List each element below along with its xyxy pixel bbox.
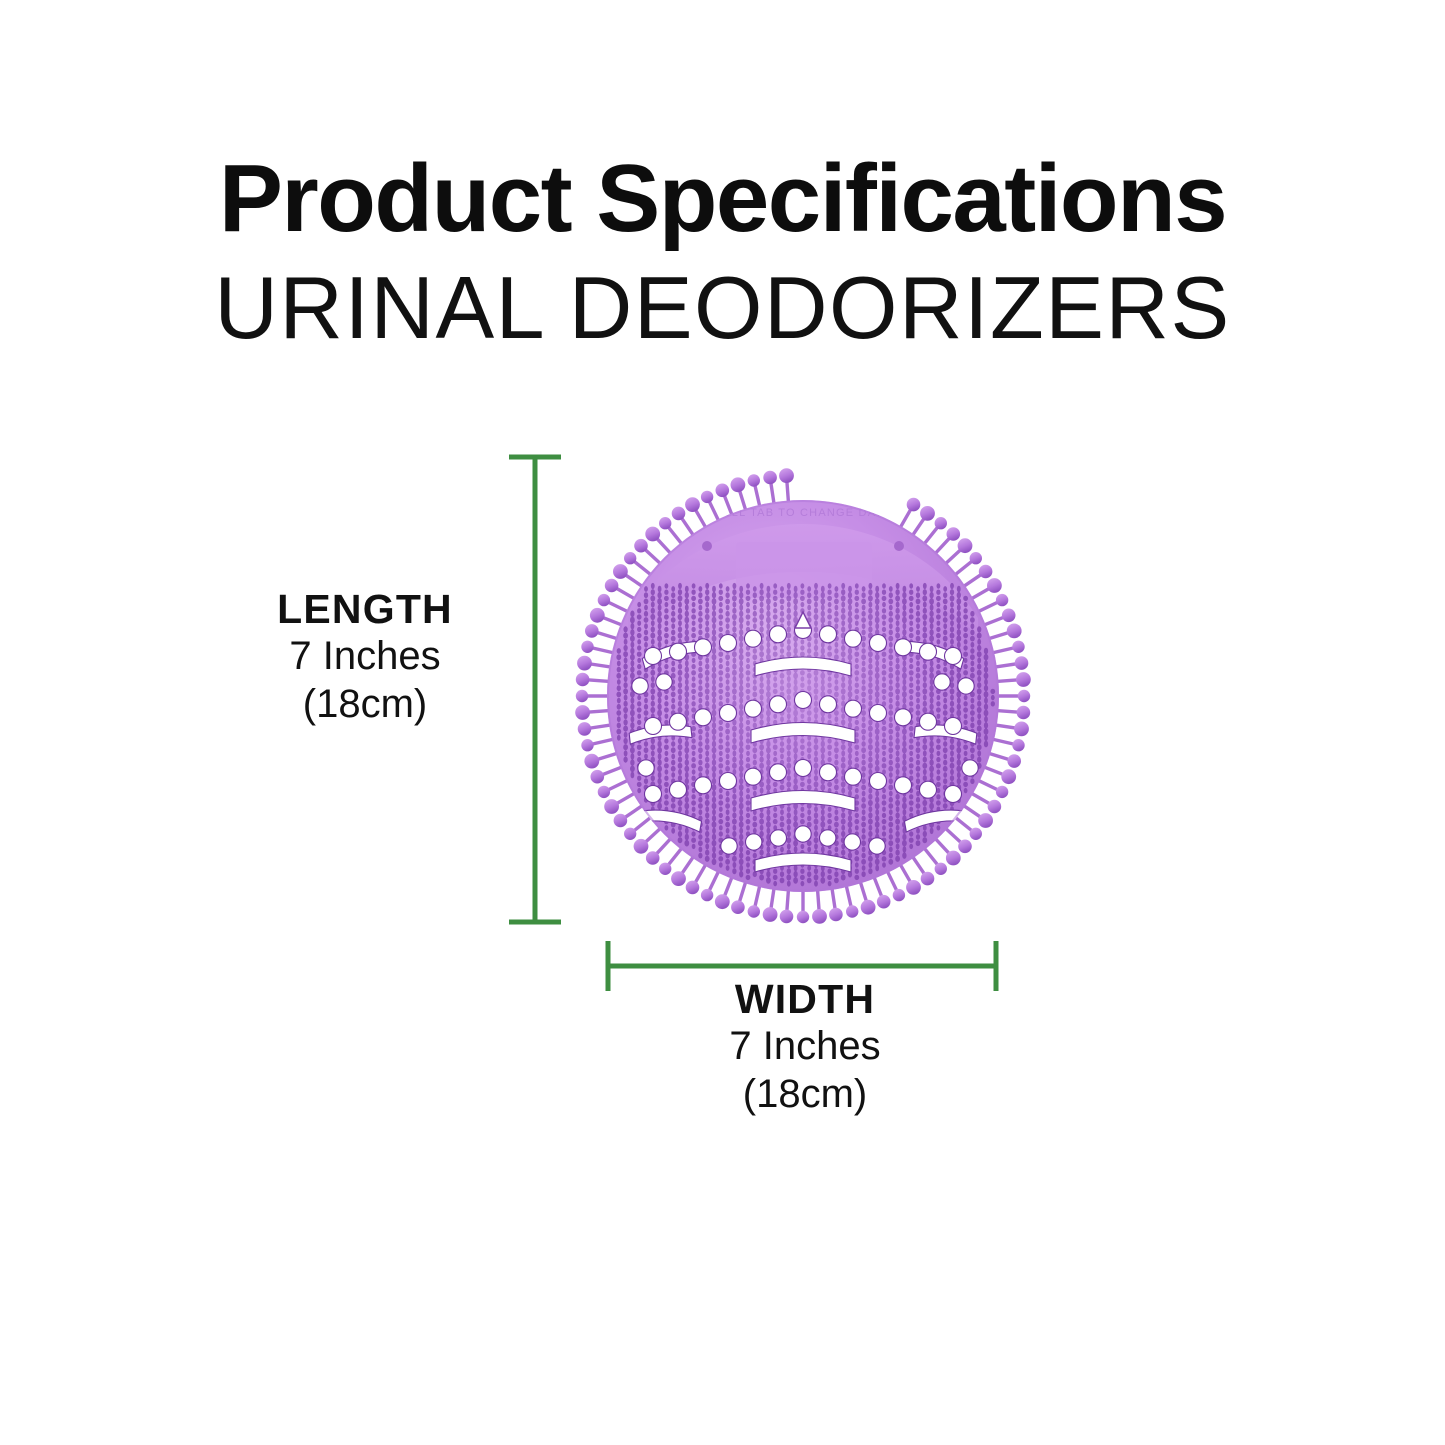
length-label-value: 7 Inches [210, 633, 520, 680]
length-label-name: LENGTH [210, 585, 520, 633]
width-label-name: WIDTH [640, 975, 970, 1023]
page-subtitle: URINAL DEODORIZERS [0, 248, 1445, 355]
width-label: WIDTH 7 Inches (18cm) [640, 975, 970, 1118]
embossed-top-text: PULL TAB TO CHANGE DATE [714, 507, 892, 519]
length-label-metric: (18cm) [210, 681, 520, 728]
urinal-screen-illustration: PULL TAB TO CHANGE DATE [568, 468, 1038, 928]
width-label-value: 7 Inches [640, 1023, 970, 1070]
page-heading-block: Product Specifications URINAL DEODORIZER… [0, 150, 1445, 355]
panel-hole-left [702, 541, 712, 551]
width-label-metric: (18cm) [640, 1071, 970, 1118]
product-image: PULL TAB TO CHANGE DATE [568, 468, 1038, 928]
page-title: Product Specifications [0, 150, 1445, 248]
product-specifications-page: Product Specifications URINAL DEODORIZER… [0, 0, 1445, 1445]
panel-hole-right [894, 541, 904, 551]
length-label: LENGTH 7 Inches (18cm) [210, 585, 520, 728]
